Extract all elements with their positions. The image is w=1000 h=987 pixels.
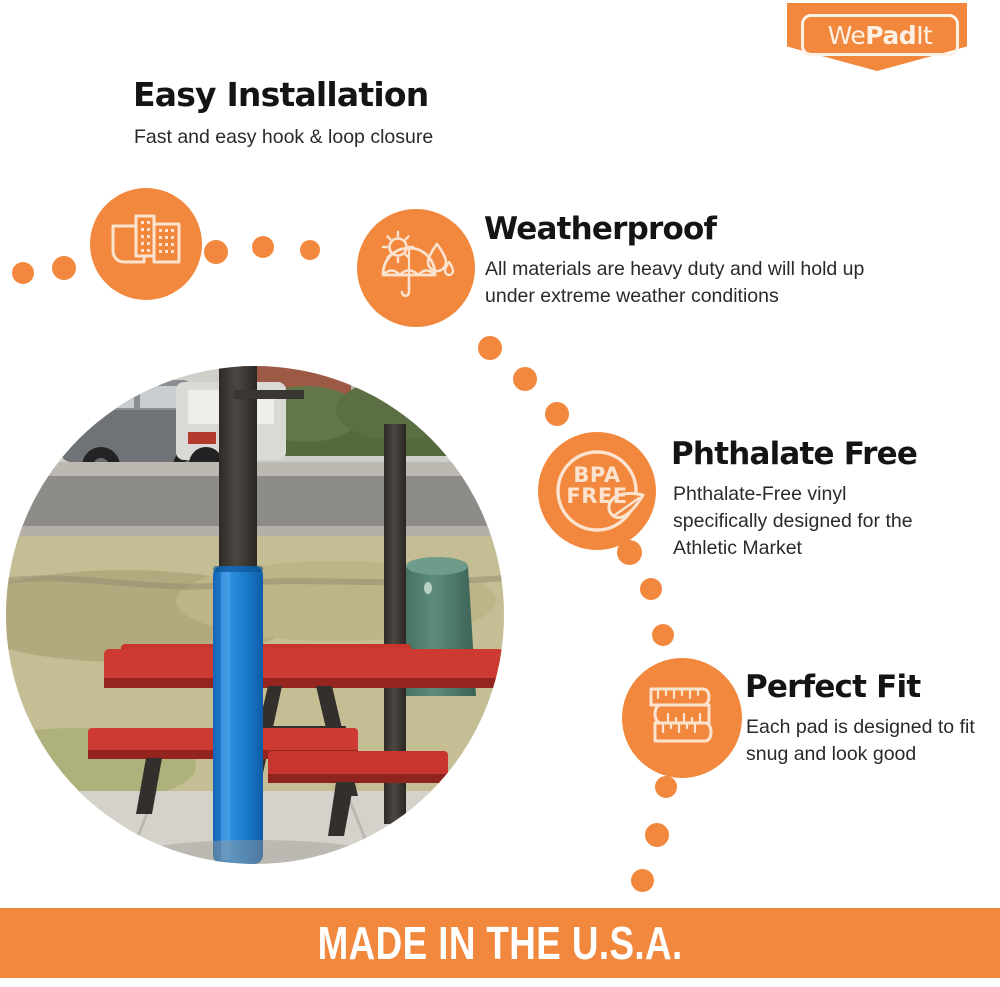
bpa-free-leaf-icon: BPA FREE (547, 441, 647, 541)
path-dot (652, 624, 674, 646)
logo-text-we: We (828, 21, 866, 50)
infographic-canvas: WePadIt Easy Installation Fast and easy … (0, 0, 1000, 987)
made-in-usa-banner: MADE IN THE U.S.A. (0, 908, 1000, 978)
path-dot (300, 240, 320, 260)
path-dot (645, 823, 669, 847)
feature-body-easy-installation: Fast and easy hook & loop closure (134, 124, 554, 151)
path-dot (52, 256, 76, 280)
feature-icon-circle-weatherproof (357, 209, 475, 327)
path-dot (478, 336, 502, 360)
feature-body-perfect-fit: Each pad is designed to fit snug and loo… (746, 714, 976, 768)
path-dot (640, 578, 662, 600)
bpa-free-icon-line2: FREE (566, 484, 627, 508)
logo-wordmark: WePadIt (828, 23, 933, 48)
path-dot (204, 240, 228, 264)
feature-icon-circle-perfect-fit (622, 658, 742, 778)
feature-body-phthalate-free: Phthalate-Free vinyl specifically design… (673, 481, 938, 562)
path-dot (631, 869, 654, 892)
path-dot (513, 367, 537, 391)
measuring-tape-icon (639, 673, 725, 764)
logo-outline: WePadIt (801, 14, 959, 56)
logo-text-pad: Pad (865, 21, 916, 50)
feature-icon-circle-easy-installation (90, 188, 202, 300)
feature-title-weatherproof: Weatherproof (484, 213, 716, 246)
feature-title-phthalate-free: Phthalate Free (671, 438, 917, 471)
logo-text-it: It (916, 21, 932, 50)
path-dot (252, 236, 274, 258)
product-photo (6, 366, 504, 864)
feature-icon-circle-phthalate-free: BPA FREE (538, 432, 656, 550)
path-dot (655, 776, 677, 798)
path-dot (12, 262, 34, 284)
hook-and-loop-icon (110, 210, 182, 279)
path-dot (545, 402, 569, 426)
feature-body-weatherproof: All materials are heavy duty and will ho… (485, 256, 915, 310)
feature-title-easy-installation: Easy Installation (133, 78, 428, 113)
made-in-usa-text: MADE IN THE U.S.A. (318, 916, 683, 970)
feature-title-perfect-fit: Perfect Fit (745, 671, 920, 704)
brand-logo: WePadIt (787, 3, 967, 55)
sun-umbrella-rain-icon (375, 228, 457, 309)
